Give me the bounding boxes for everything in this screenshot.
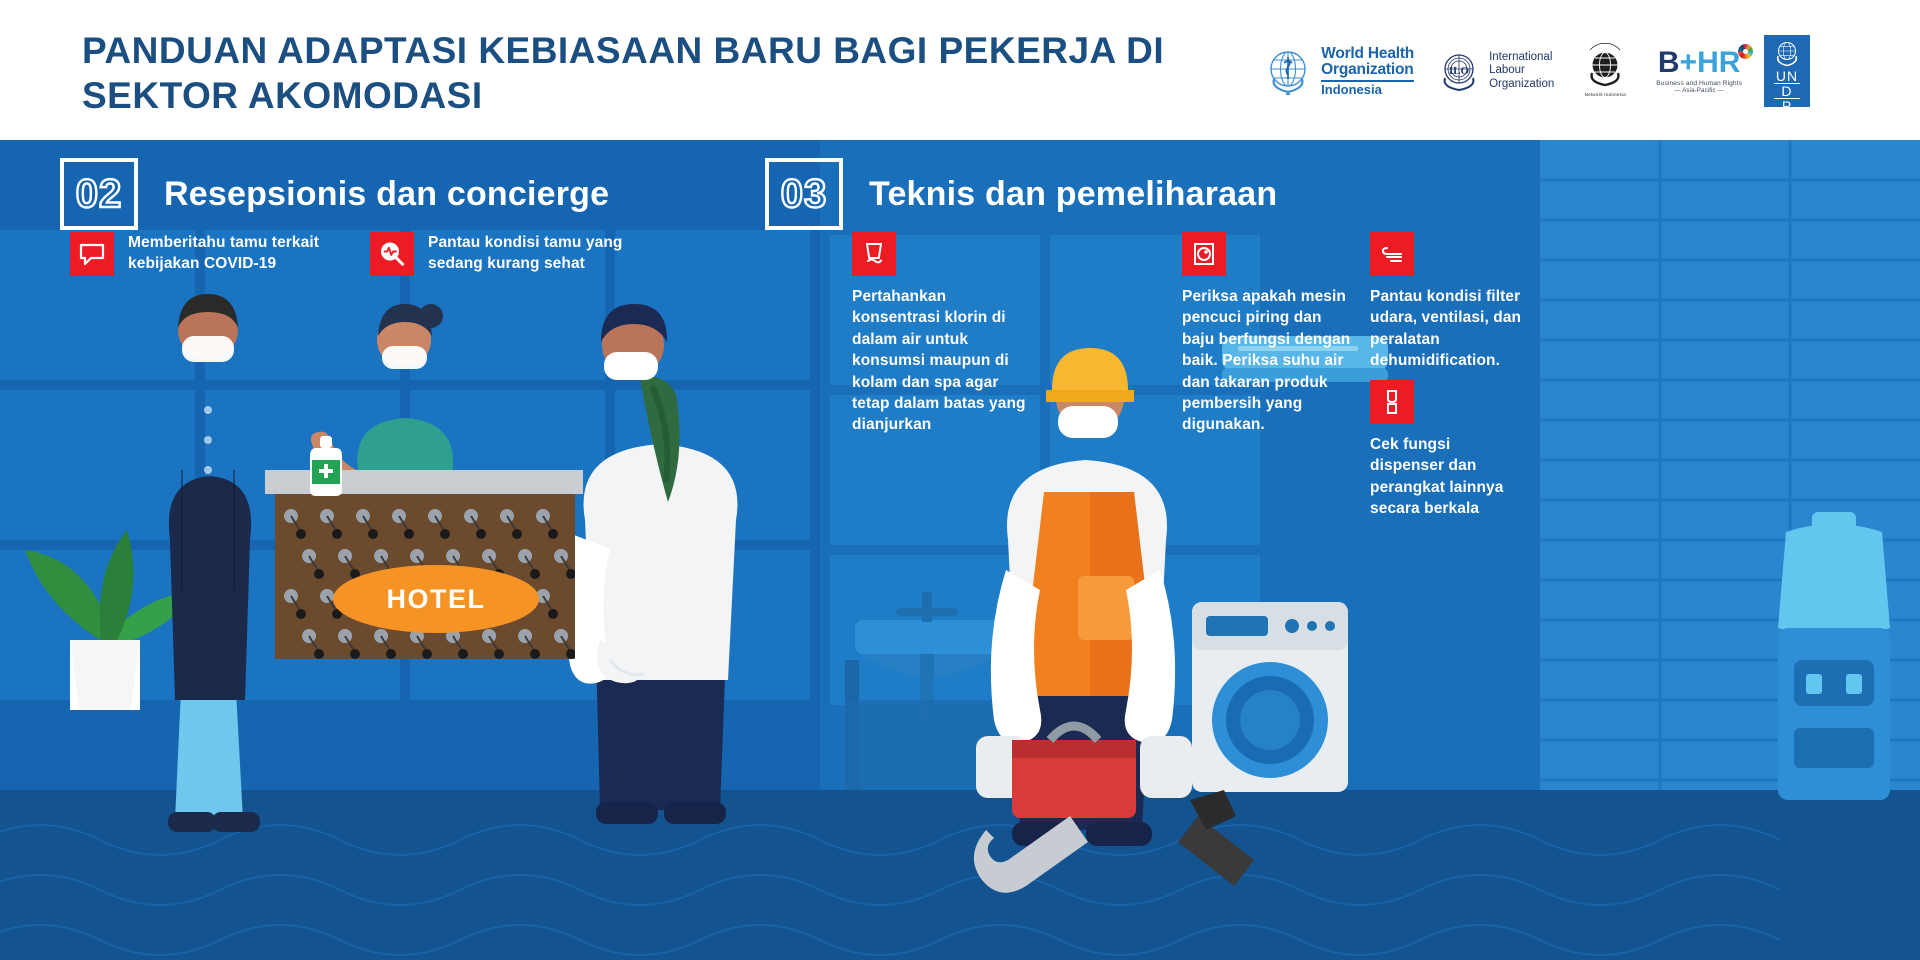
section-03-header: 03 Teknis dan pemeliharaan [765,158,1277,230]
un-emblem-icon [1773,39,1801,67]
tip-monitor-unwell-guests: Pantau kondisi tamu yang sedang kurang s… [370,232,640,276]
bhr-wordmark: B+HR [1656,48,1742,78]
section-02-number: 02 [60,158,138,230]
tip-text: Periksa apakah mesin pencuci piring dan … [1182,286,1352,436]
washing-machine-icon [1182,232,1226,276]
ilo-wordmark: International Labour Organization [1489,51,1554,91]
page-header: PANDUAN ADAPTASI KEBIASAAN BARU BAGI PEK… [0,0,1920,140]
un-global-compact-logo: Network Indonesia [1576,45,1634,97]
speech-bubble-icon [70,232,114,276]
bhr-subtitle-1: Business and Human Rights [1656,80,1742,87]
tip-text: Pantau kondisi tamu yang sedang kurang s… [428,232,640,275]
logo-bar: World Health Organization Indonesia ILO … [1262,28,1810,114]
tip-dispenser-check: Cek fungsi dispenser dan perangkat lainn… [1370,380,1520,520]
undp-logo: UN D P [1764,35,1810,107]
guest-character-left [168,294,260,832]
tip-chlorine-concentration: Pertahankan konsentrasi klorin di dalam … [852,232,1034,436]
airflow-icon [1370,232,1414,276]
magnifier-pulse-icon [370,232,414,276]
section-03-title: Teknis dan pemeliharaan [869,175,1277,214]
section-03-number: 03 [765,158,843,230]
tip-text: Pantau kondisi filter udara, ventilasi, … [1370,286,1542,372]
ilo-emblem-icon: ILO [1436,48,1482,94]
undp-letters: UN D P [1774,69,1800,113]
svg-text:ILO: ILO [1449,65,1470,77]
who-wordmark: World Health Organization Indonesia [1321,46,1414,97]
sdg-wheel-icon [1738,44,1753,59]
washing-machine [1192,602,1348,792]
tip-inform-guests: Memberitahu tamu terkait kebijakan COVID… [70,232,330,276]
guest-character-scarf [565,304,738,824]
who-logo: World Health Organization Indonesia [1262,45,1414,97]
bhr-logo: B+HR Business and Human Rights — Asia-Pa… [1656,48,1742,94]
page-title: PANDUAN ADAPTASI KEBIASAAN BARU BAGI PEK… [82,28,1232,118]
illustration-scene: HOTEL 02 Resepsionis dan concierge Membe… [0,140,1920,960]
ungc-caption: Network Indonesia [1576,92,1634,97]
section-02-header: 02 Resepsionis dan concierge [60,158,609,230]
tip-text: Cek fungsi dispenser dan perangkat lainn… [1370,434,1520,520]
tip-air-filter: Pantau kondisi filter udara, ventilasi, … [1370,232,1542,372]
section-02-title: Resepsionis dan concierge [164,175,609,214]
tip-text: Pertahankan konsentrasi klorin di dalam … [852,286,1034,436]
water-glass-icon [852,232,896,276]
bhr-subtitle-2: — Asia-Pacific — [1656,87,1742,94]
water-dispenser-icon [1370,380,1414,424]
water-dispenser [1778,512,1890,800]
tip-text: Memberitahu tamu terkait kebijakan COVID… [128,232,330,275]
tip-check-machines: Periksa apakah mesin pencuci piring dan … [1182,232,1352,436]
hand-sanitizer-bottle [306,436,346,498]
globe-wreath-icon [1582,45,1628,91]
hotel-sign: HOTEL [333,565,539,633]
who-emblem-icon [1262,45,1314,97]
ilo-logo: ILO International Labour Organization [1436,48,1554,94]
